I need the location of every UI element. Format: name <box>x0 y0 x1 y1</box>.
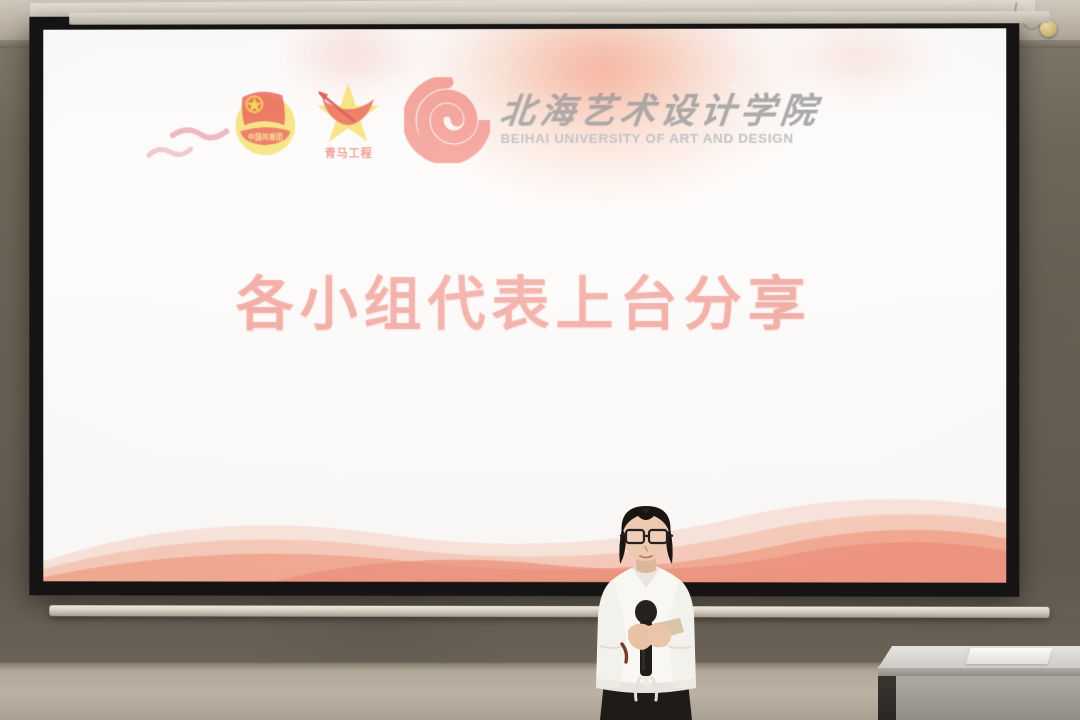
classroom-photo: 中国共青团 青马工程 <box>0 0 1080 720</box>
screen-roller-housing <box>69 11 1049 25</box>
university-name-en: BEIHAI UNIVERSITY OF ART AND DESIGN <box>500 131 820 146</box>
slide-title: 各小组代表上台分享 <box>43 257 1006 341</box>
lectern-paper <box>965 648 1052 664</box>
svg-text:中国共青团: 中国共青团 <box>248 132 283 141</box>
university-name-cn: 北海艺术设计学院 <box>499 93 823 130</box>
screen-bottom-weight-bar <box>49 605 1049 618</box>
student-presenter <box>556 506 736 720</box>
slide-logo-row: 中国共青团 青马工程 <box>43 76 1006 163</box>
communist-youth-league-emblem: 中国共青团 <box>227 81 305 159</box>
projection-screen-frame: 中国共青团 青马工程 <box>29 15 1019 597</box>
lectern <box>878 646 1080 720</box>
presentation-slide: 中国共青团 青马工程 <box>43 28 1006 582</box>
university-logo-block: 北海艺术设计学院 BEIHAI UNIVERSITY OF ART AND DE… <box>405 77 821 163</box>
youth-marxist-project-mark: 青马工程 <box>311 79 387 161</box>
university-spiral-icon <box>405 77 491 163</box>
university-name-block: 北海艺术设计学院 BEIHAI UNIVERSITY OF ART AND DE… <box>500 93 820 146</box>
youth-marxist-label: 青马工程 <box>311 145 387 161</box>
wave-decoration <box>43 412 1006 583</box>
lectern-body <box>896 674 1080 720</box>
sparkle-icon <box>504 65 508 69</box>
